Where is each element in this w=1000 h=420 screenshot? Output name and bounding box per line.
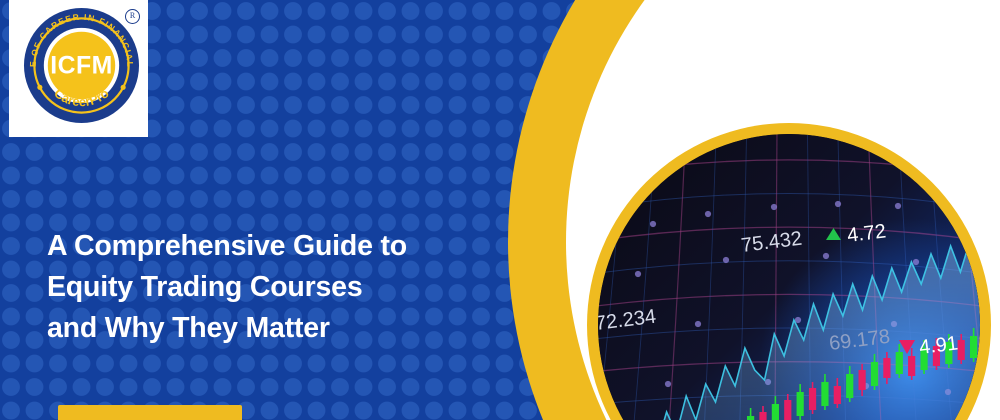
page-title: A Comprehensive Guide to Equity Trading … [47, 226, 517, 349]
change-up-label: 4.72 [846, 220, 887, 247]
trading-chart: 75.432 72.234 69.178 4.72 4.91 [598, 134, 980, 420]
registered-trademark-icon: R [125, 9, 140, 24]
blog-banner: 75.432 72.234 69.178 4.72 4.91 I [0, 0, 1000, 420]
price-label-mid: 69.178 [828, 326, 891, 355]
chart-annotation-layer: 75.432 72.234 69.178 4.72 4.91 [598, 134, 980, 420]
headline-line-2: Equity Trading Courses [47, 267, 517, 308]
logo-container[interactable]: INSTITUTE OF CAREER IN FINANCIAL MARKET … [9, 0, 148, 137]
headline-line-1: A Comprehensive Guide to [47, 226, 517, 267]
logo-center-text: ICFM [50, 52, 113, 79]
change-down-label: 4.91 [918, 332, 959, 359]
price-label-low: 72.234 [598, 306, 657, 335]
cta-button[interactable] [58, 405, 242, 420]
headline-line-3: and Why They Matter [47, 308, 517, 349]
trading-chart-disc: 75.432 72.234 69.178 4.72 4.91 [598, 134, 980, 420]
triangle-down-icon [899, 340, 915, 354]
triangle-up-icon [826, 228, 841, 240]
icfm-logo: INSTITUTE OF CAREER IN FINANCIAL MARKET … [22, 6, 141, 125]
price-label-high: 75.432 [740, 228, 803, 257]
